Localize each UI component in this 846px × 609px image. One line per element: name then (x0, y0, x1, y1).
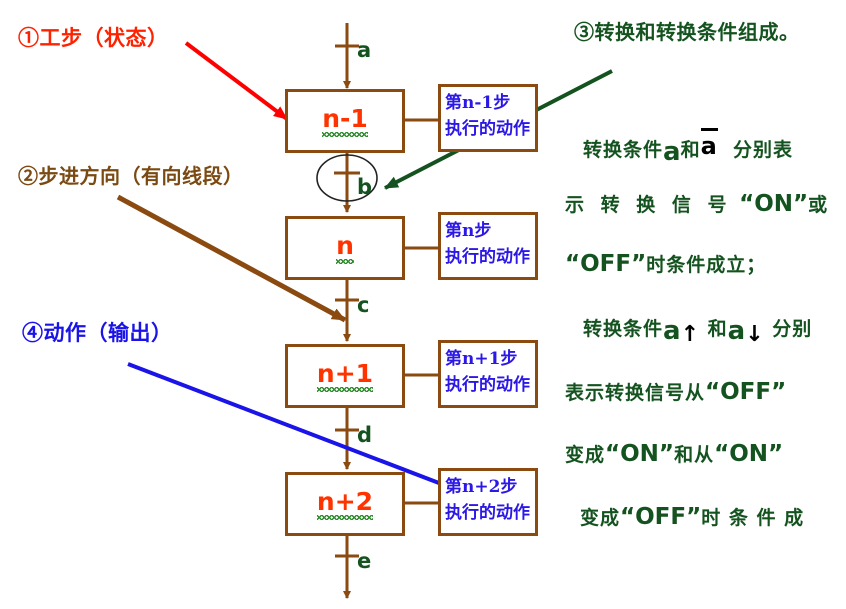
step-label-wrap: n+1 (317, 361, 373, 392)
action-line-1: 第n+2步 (445, 474, 533, 500)
expl-6-pre: 变成 (565, 444, 605, 466)
transition-link-e (335, 536, 359, 598)
expl-6-mid: 和从 (674, 444, 714, 466)
action-box-n-plus-1[interactable]: 第n+1步 执行的动作 (438, 340, 538, 408)
action-line-2: 执行的动作 (445, 500, 533, 526)
explanation-line-6: 变成“ON”和从“ON” (565, 440, 783, 467)
step-label-wrap: n (336, 233, 354, 264)
transition-link-a (335, 23, 359, 88)
expl-4-a2: a (728, 316, 746, 346)
expl-4-mid: 和 (708, 318, 728, 340)
arrow-up-icon: ↑ (681, 322, 700, 347)
expl-1-mid: 和 (681, 139, 701, 161)
annotation-label-direction: ②步进方向（有向线段） (18, 160, 244, 189)
step-label: n-1 (322, 104, 368, 133)
annotation-label-transition: ③转换和转换条件组成。 (574, 16, 800, 45)
transition-letter-c: c (357, 293, 369, 317)
step-box-n-minus-1[interactable]: n-1 (285, 89, 405, 153)
expl-1-a-bar: a (701, 128, 718, 160)
action-line-1: 第n-1步 (445, 90, 533, 116)
expl-3-tail: 时条件成立； (646, 254, 766, 276)
expl-7-pre: 变成 (580, 507, 620, 529)
expl-4-pre: 转换条件 (583, 318, 663, 340)
explanation-line-5: 表示转换信号从“OFF” (565, 378, 786, 405)
expl-1-pre: 转换条件 (583, 139, 663, 161)
action-line-1: 第n步 (445, 218, 533, 244)
transition-letter-b: b (357, 175, 372, 199)
transition-link-d (335, 408, 359, 469)
expl-6-on1: “ON” (605, 441, 674, 467)
step-label-wrap: n-1 (322, 106, 368, 137)
explanation-line-4: 转换条件a↑ 和a↓ 分别 (583, 312, 812, 342)
step-box-n[interactable]: n (285, 216, 405, 280)
expl-5-off: “OFF” (705, 379, 786, 405)
action-line-2: 执行的动作 (445, 372, 533, 398)
expl-1-post: 分别表 (733, 139, 793, 161)
expl-1-a: a (663, 137, 681, 167)
step-label: n+1 (317, 359, 373, 388)
expl-7-post: 时 条 件 成 (701, 507, 804, 529)
transition-letter-e: e (357, 549, 371, 573)
expl-3-off: “OFF” (565, 251, 646, 277)
action-line-1: 第n+1步 (445, 346, 533, 372)
explanation-line-7: 变成“OFF”时 条 件 成 (580, 503, 804, 530)
transition-letter-a: a (357, 38, 371, 62)
step-box-n-plus-1[interactable]: n+1 (285, 344, 405, 408)
step-box-n-plus-2[interactable]: n+2 (285, 472, 405, 536)
action-box-n-minus-1[interactable]: 第n-1步 执行的动作 (438, 84, 538, 152)
annotation-label-step: ①工步（状态） (18, 22, 169, 52)
action-line-2: 执行的动作 (445, 244, 533, 270)
expl-4-post: 分别 (772, 318, 812, 340)
action-line-2: 执行的动作 (445, 116, 533, 142)
annotation-label-action: ④动作（输出） (22, 317, 173, 347)
transition-letter-d: d (357, 423, 372, 447)
step-label-wrap: n+2 (317, 489, 373, 520)
expl-7-off: “OFF” (620, 504, 701, 530)
transition-link-c (335, 280, 359, 341)
action-box-n[interactable]: 第n步 执行的动作 (438, 212, 538, 280)
step-label: n+2 (317, 487, 373, 516)
expl-2-pre: 示 转 换 信 号 (565, 194, 731, 216)
explanation-line-3: “OFF”时条件成立； (565, 250, 766, 277)
expl-2-on: “ON” (739, 191, 808, 217)
expl-6-on2: “ON” (714, 441, 783, 467)
explanation-line-1: 转换条件a和a 分别表 (583, 133, 793, 163)
explanation-line-2: 示 转 换 信 号 “ON”或 (565, 190, 828, 217)
leader-arrow-red (186, 43, 287, 119)
expl-4-a1: a (663, 316, 681, 346)
step-label: n (336, 231, 354, 260)
expl-5-pre: 表示转换信号从 (565, 382, 705, 404)
action-box-n-plus-2[interactable]: 第n+2步 执行的动作 (438, 468, 538, 536)
arrow-down-icon: ↓ (745, 322, 764, 347)
sfc-diagram-canvas: ①工步（状态） ②步进方向（有向线段） ④动作（输出） ③转换和转换条件组成。 … (0, 0, 846, 609)
expl-2-tail: 或 (808, 194, 828, 216)
